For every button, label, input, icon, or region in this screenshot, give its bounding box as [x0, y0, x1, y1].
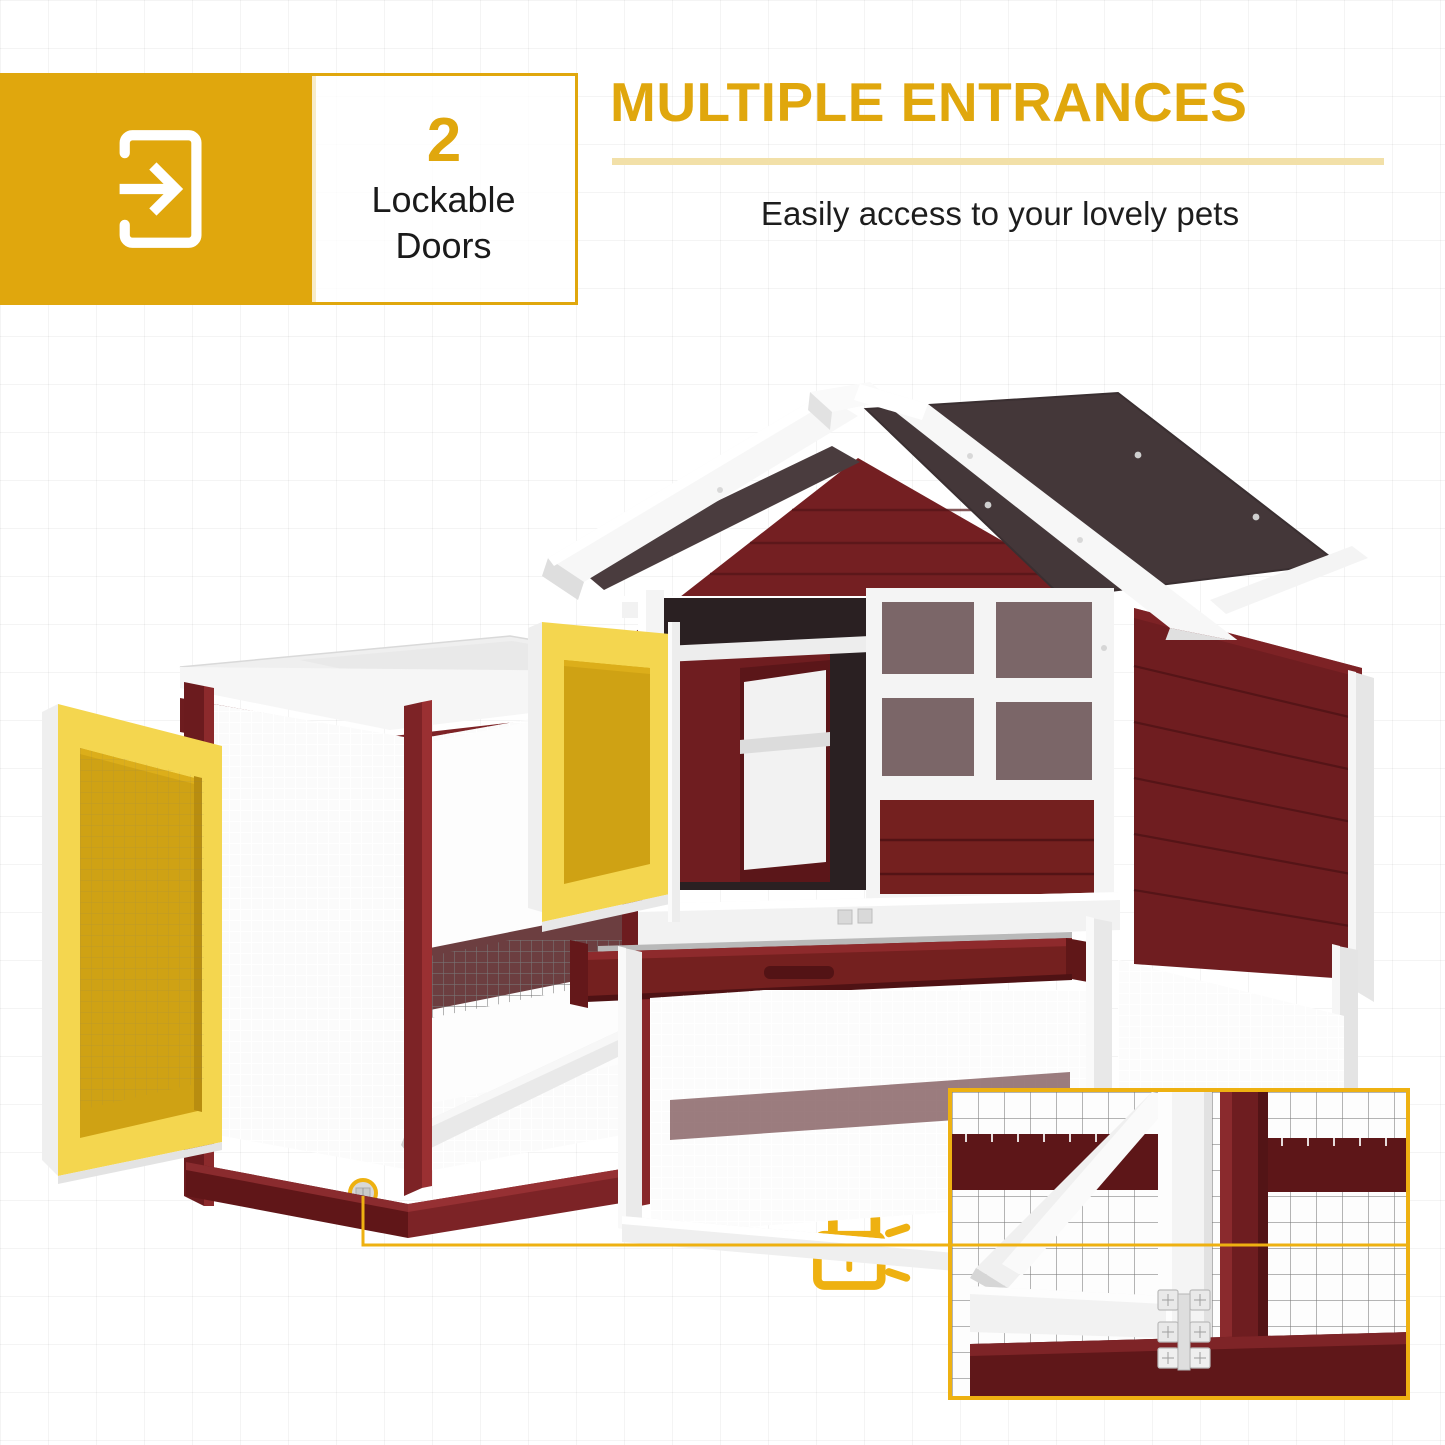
- hinge-latch-closeup: [948, 1088, 1410, 1400]
- header-text-group: MULTIPLE ENTRANCES Easily access to your…: [610, 75, 1410, 233]
- front-door-hinge-post: [662, 616, 688, 936]
- header-banner: 2 Lockable Doors MULTIPLE ENTRANCES Easi…: [0, 73, 1410, 305]
- page-title: MULTIPLE ENTRANCES: [610, 75, 1410, 130]
- door-enter-arrow-icon: [94, 125, 222, 253]
- badge-icon-block: [0, 73, 316, 305]
- side-door-mesh-texture: [80, 748, 204, 1112]
- badge-label: Lockable Doors: [371, 177, 515, 269]
- tray-left-support: [562, 930, 602, 1030]
- inset-hinge-hardware: [1150, 1288, 1224, 1378]
- headline-divider: [612, 158, 1384, 165]
- front-door-open-yellow: [524, 612, 684, 942]
- inset-mahogany-post: [1214, 1092, 1284, 1352]
- badge-count: 2: [427, 112, 460, 171]
- badge-label-line1: Lockable: [371, 177, 515, 223]
- badge-text-box: 2 Lockable Doors: [312, 73, 578, 305]
- badge-label-line2: Doors: [371, 223, 515, 269]
- page-subtitle: Easily access to your lovely pets: [610, 195, 1390, 233]
